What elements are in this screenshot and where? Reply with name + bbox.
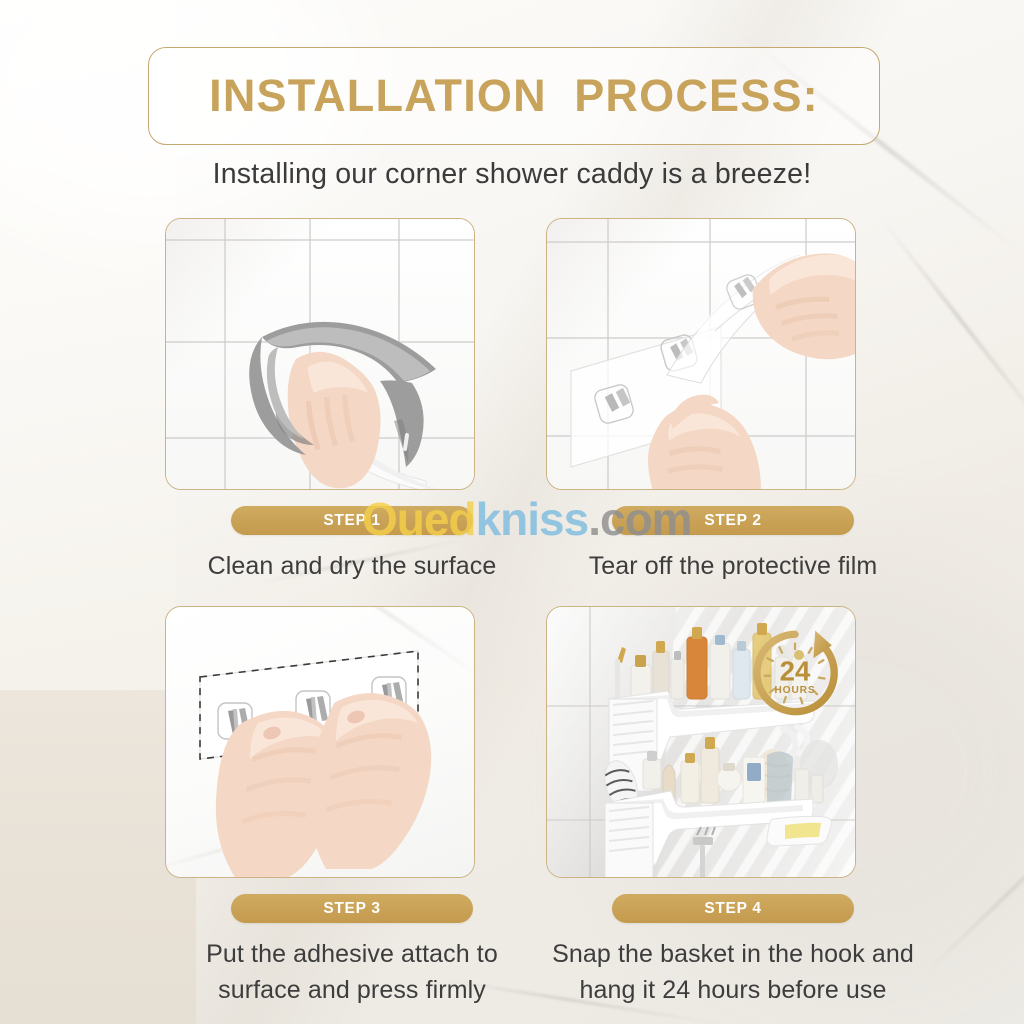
step-card-1: STEP 1 Clean and dry the surface <box>160 218 544 585</box>
step-card-2: STEP 2 Tear off the protective film <box>541 218 925 585</box>
step-4-photo: 24 HOURS <box>546 606 856 878</box>
step-card-3: STEP 3 Put the adhesive attach to surfac… <box>160 606 544 1008</box>
step-1-caption-line1: Clean and dry the surface <box>160 549 544 585</box>
hanging-razor <box>693 827 715 878</box>
peel-film-illustration <box>547 219 856 490</box>
step-1-caption: Clean and dry the surface <box>160 549 544 585</box>
title-box: INSTALLATION PROCESS: <box>148 47 880 145</box>
step-2-photo <box>546 218 856 490</box>
marble-vein <box>918 783 1024 980</box>
24-hours-badge: 24 HOURS <box>749 627 841 719</box>
infographic-page: INSTALLATION PROCESS: Installing our cor… <box>0 0 1024 1024</box>
step-4-badge: STEP 4 <box>612 894 854 923</box>
step-4-caption-line2: hang it 24 hours before use <box>541 973 925 1009</box>
step-3-caption: Put the adhesive attach to surface and p… <box>160 937 544 1008</box>
step-3-photo <box>165 606 475 878</box>
step-3-badge-label: STEP 3 <box>323 900 380 918</box>
step-4-caption-line1: Snap the basket in the hook and <box>541 937 925 973</box>
step-3-caption-line2: surface and press firmly <box>160 973 544 1009</box>
step-1-badge-label: STEP 1 <box>323 512 380 530</box>
page-subtitle: Installing our corner shower caddy is a … <box>0 158 1024 191</box>
soap-bar <box>785 823 821 839</box>
page-title: INSTALLATION PROCESS: <box>209 70 819 122</box>
step-2-caption-line1: Tear off the protective film <box>541 549 925 585</box>
cleaning-cloth-illustration <box>166 219 475 490</box>
step-1-badge: STEP 1 <box>231 506 473 535</box>
badge-number: 24 <box>780 655 811 686</box>
press-adhesive-illustration <box>166 607 475 878</box>
step-4-badge-label: STEP 4 <box>704 900 761 918</box>
step-3-badge: STEP 3 <box>231 894 473 923</box>
step-1-photo <box>165 218 475 490</box>
step-2-badge: STEP 2 <box>612 506 854 535</box>
badge-unit: HOURS <box>774 685 815 696</box>
step-4-caption: Snap the basket in the hook and hang it … <box>541 937 925 1008</box>
step-2-badge-label: STEP 2 <box>704 512 761 530</box>
step-3-caption-line1: Put the adhesive attach to <box>160 937 544 973</box>
step-card-4: 24 HOURS STEP 4 Snap the basket in the h… <box>541 606 925 1008</box>
step-2-caption: Tear off the protective film <box>541 549 925 585</box>
caddy-hook <box>783 729 795 755</box>
